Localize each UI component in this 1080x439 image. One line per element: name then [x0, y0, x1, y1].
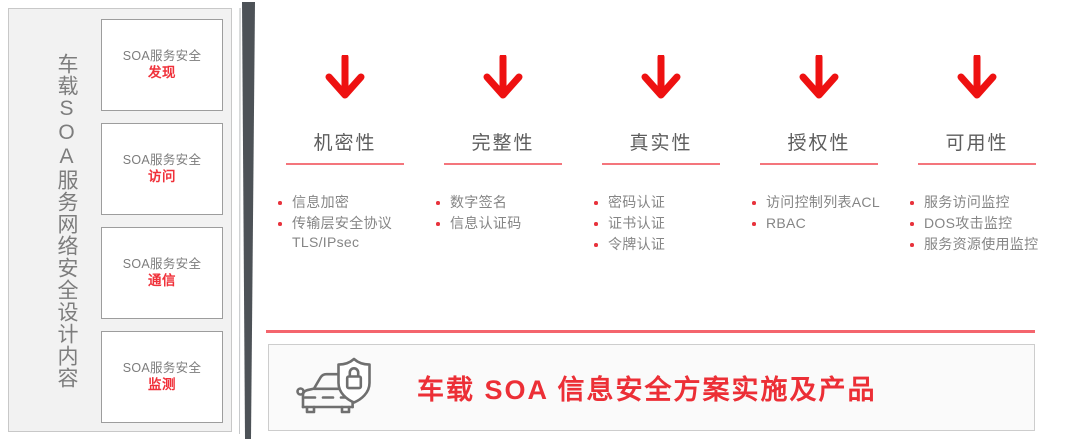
soa-box-monitoring[interactable]: SOA服务安全 监测: [101, 331, 223, 423]
soa-box-label-bottom: 监测: [148, 376, 176, 393]
list-item-text: 信息认证码: [450, 214, 522, 233]
bullet-dot-icon: [436, 193, 450, 205]
bullet-dot-icon: [752, 214, 766, 226]
left-panel: 车载SOA服务网络安全设计内容 SOA服务安全 发现 SOA服务安全 访问 SO…: [8, 8, 232, 432]
column-header-rule: [918, 163, 1036, 165]
list-item: 访问控制列表ACL: [752, 193, 894, 212]
column-header: 机密性: [313, 128, 376, 160]
bullet-list: 密码认证 证书认证 令牌认证: [586, 193, 736, 256]
list-item-text: 访问控制列表ACL: [766, 193, 880, 212]
column-integrity: 完整性 数字签名 信息认证码: [424, 52, 582, 256]
list-item-text: RBAC: [766, 214, 806, 233]
horizontal-red-divider: [266, 330, 1035, 333]
list-item: 信息认证码: [436, 214, 578, 233]
down-arrow-icon: [481, 55, 525, 101]
column-header: 授权性: [787, 128, 850, 160]
column-confidentiality: 机密性 信息加密 传输层安全协议TLS/IPsec: [266, 52, 424, 256]
column-authenticity: 真实性 密码认证 证书认证 令牌认证: [582, 52, 740, 256]
list-item: 服务访问监控: [910, 193, 1052, 212]
bullet-list: 服务访问监控 DOS攻击监控 服务资源使用监控: [902, 193, 1052, 256]
bullet-dot-icon: [594, 193, 608, 205]
column-header: 真实性: [629, 128, 692, 160]
list-item-text: 服务访问监控: [924, 193, 1010, 212]
list-item: 密码认证: [594, 193, 736, 212]
column-availability: 可用性 服务访问监控 DOS攻击监控 服务资源使用监控: [898, 52, 1056, 256]
bullet-dot-icon: [594, 214, 608, 226]
banner-title: 车载 SOA 信息安全方案实施及产品: [417, 368, 877, 407]
soa-box-label-bottom: 发现: [148, 64, 176, 81]
list-item: RBAC: [752, 214, 894, 233]
soa-box-label-top: SOA服务安全: [123, 152, 202, 168]
list-item: 服务资源使用监控: [910, 235, 1052, 254]
list-item: 证书认证: [594, 214, 736, 233]
soa-box-list: SOA服务安全 发现 SOA服务安全 访问 SOA服务安全 通信 SOA服务安全…: [101, 19, 223, 423]
column-header: 可用性: [945, 128, 1008, 160]
bottom-banner: 车载 SOA 信息安全方案实施及产品: [268, 344, 1035, 431]
soa-box-discovery[interactable]: SOA服务安全 发现: [101, 19, 223, 111]
soa-box-access[interactable]: SOA服务安全 访问: [101, 123, 223, 215]
down-arrow-wrap: [797, 52, 841, 104]
soa-box-label-bottom: 通信: [148, 272, 176, 289]
list-item-text: 数字签名: [450, 193, 507, 212]
bullet-dot-icon: [752, 193, 766, 205]
down-arrow-wrap: [955, 52, 999, 104]
bullet-list: 访问控制列表ACL RBAC: [744, 193, 894, 235]
list-item-text: 服务资源使用监控: [924, 235, 1038, 254]
list-item-text: 令牌认证: [608, 235, 665, 254]
down-arrow-wrap: [323, 52, 367, 104]
bullet-dot-icon: [278, 193, 292, 205]
list-item: 信息加密: [278, 193, 420, 212]
list-item-text: DOS攻击监控: [924, 214, 1012, 233]
bullet-dot-icon: [278, 214, 292, 226]
list-item: 传输层安全协议TLS/IPsec: [278, 214, 420, 252]
column-authorization: 授权性 访问控制列表ACL RBAC: [740, 52, 898, 256]
down-arrow-icon: [797, 55, 841, 101]
soa-box-label-bottom: 访问: [148, 168, 176, 185]
list-item-text: 信息加密: [292, 193, 349, 212]
column-header: 完整性: [471, 128, 534, 160]
column-header-rule: [444, 163, 562, 165]
list-item: 数字签名: [436, 193, 578, 212]
bullet-dot-icon: [910, 193, 924, 205]
security-attribute-columns: 机密性 信息加密 传输层安全协议TLS/IPsec 完整性: [266, 52, 1056, 256]
column-header-rule: [760, 163, 878, 165]
down-arrow-icon: [955, 55, 999, 101]
bullet-list: 信息加密 传输层安全协议TLS/IPsec: [270, 193, 420, 254]
list-item: 令牌认证: [594, 235, 736, 254]
soa-box-label-top: SOA服务安全: [123, 256, 202, 272]
down-arrow-wrap: [481, 52, 525, 104]
bullet-dot-icon: [594, 235, 608, 247]
list-item-text: 证书认证: [608, 214, 665, 233]
list-item: DOS攻击监控: [910, 214, 1052, 233]
column-header-rule: [602, 163, 720, 165]
list-item-text: 密码认证: [608, 193, 665, 212]
down-arrow-wrap: [639, 52, 683, 104]
bullet-dot-icon: [910, 214, 924, 226]
bullet-list: 数字签名 信息认证码: [428, 193, 578, 235]
left-panel-vertical-title: 车载SOA服务网络安全设计内容: [39, 25, 79, 417]
bullet-dot-icon: [436, 214, 450, 226]
car-shield-lock-icon: [293, 355, 379, 421]
soa-box-label-top: SOA服务安全: [123, 360, 202, 376]
vertical-brace-divider: [239, 2, 261, 439]
soa-box-label-top: SOA服务安全: [123, 48, 202, 64]
bullet-dot-icon: [910, 235, 924, 247]
soa-box-communication[interactable]: SOA服务安全 通信: [101, 227, 223, 319]
list-item-text: 传输层安全协议TLS/IPsec: [292, 214, 420, 252]
main-content: 机密性 信息加密 传输层安全协议TLS/IPsec 完整性: [266, 0, 1080, 439]
column-header-rule: [286, 163, 404, 165]
down-arrow-icon: [323, 55, 367, 101]
down-arrow-icon: [639, 55, 683, 101]
